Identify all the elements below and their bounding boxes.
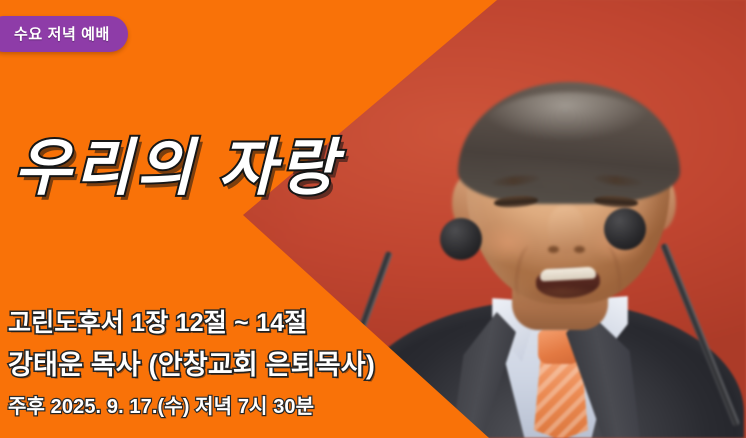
service-type-badge-label: 수요 저녁 예배 [14, 26, 110, 43]
speaker-name: 강태운 목사 (안창교회 은퇴목사) [8, 343, 375, 382]
service-datetime: 주후 2025. 9. 17.(수) 저녁 7시 30분 [8, 390, 375, 419]
worship-service-banner: 수요 저녁 예배 우리의 자랑 고린도후서 1장 12절 ~ 14절 강태운 목… [0, 0, 746, 438]
service-info-block: 고린도후서 1장 12절 ~ 14절 강태운 목사 (안창교회 은퇴목사) 주후… [8, 303, 375, 419]
sermon-title: 우리의 자랑 [14, 117, 340, 207]
text-layer: 수요 저녁 예배 우리의 자랑 고린도후서 1장 12절 ~ 14절 강태운 목… [0, 0, 746, 438]
scripture-reference: 고린도후서 1장 12절 ~ 14절 [8, 303, 375, 339]
service-type-badge: 수요 저녁 예배 [0, 16, 128, 52]
